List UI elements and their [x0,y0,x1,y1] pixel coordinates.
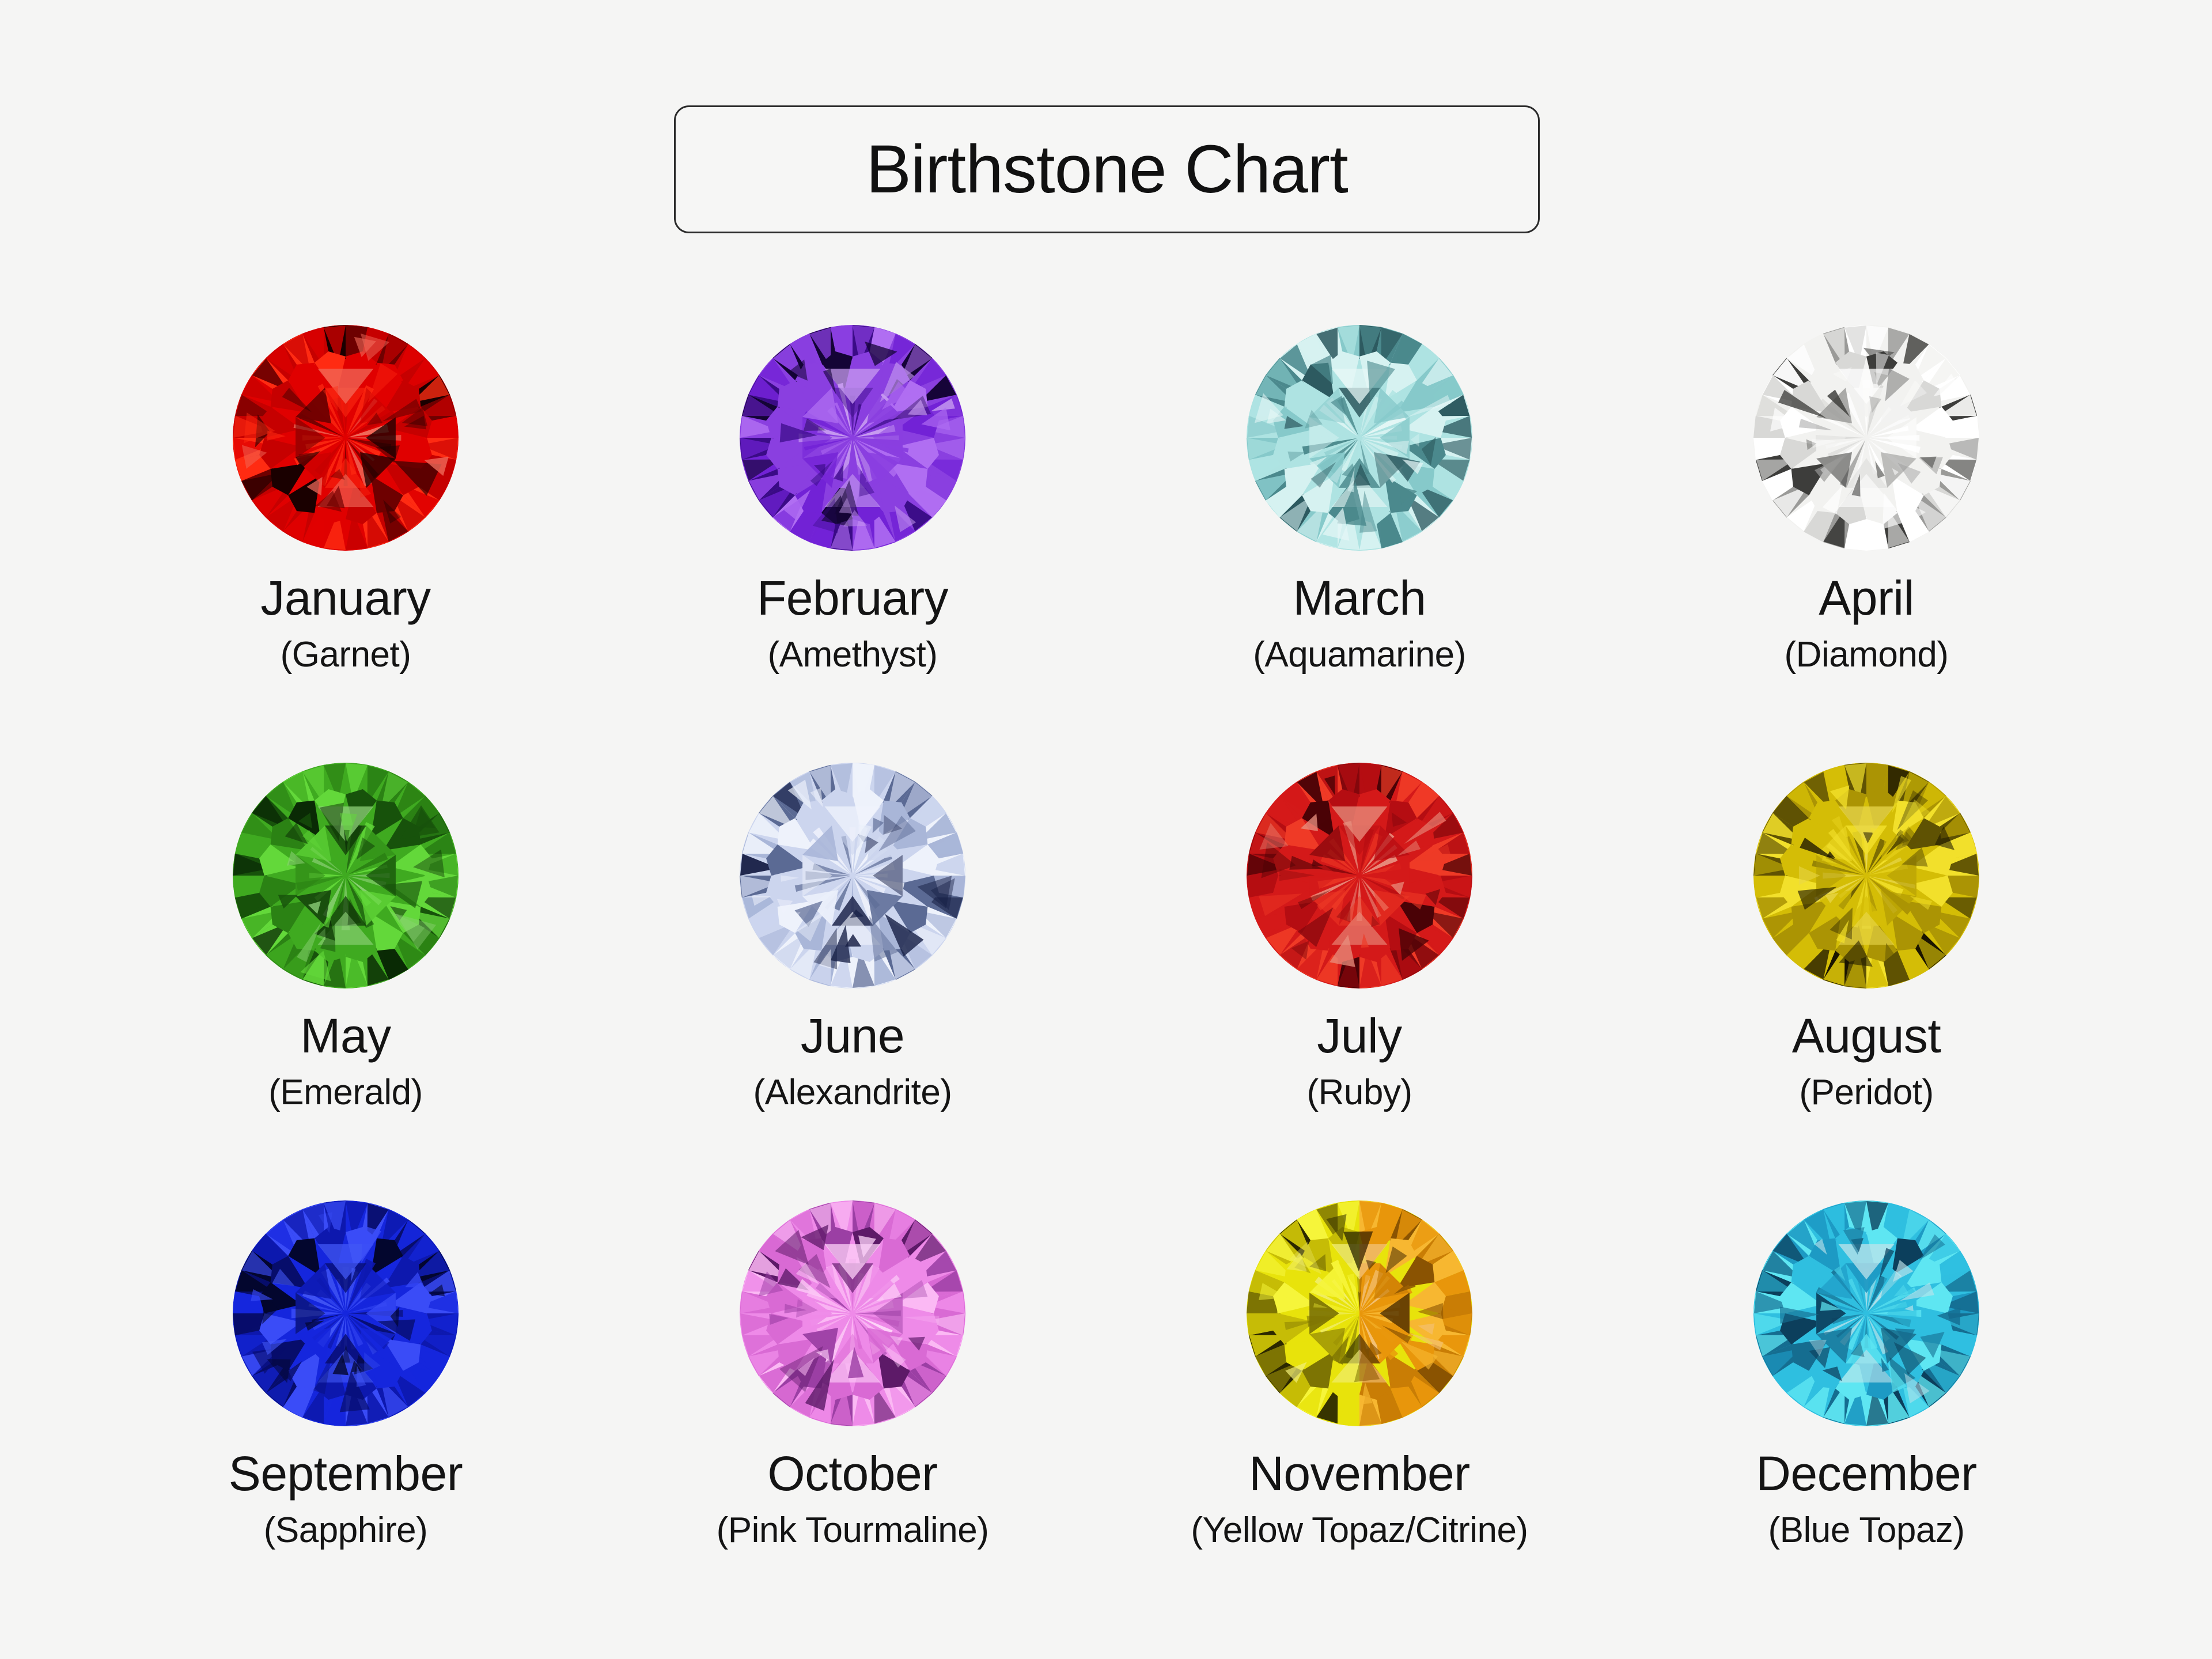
stone-label: (Blue Topaz) [1768,1513,1965,1548]
month-label: August [1792,1012,1941,1060]
month-label: June [801,1012,904,1060]
stone-label: (Aquamarine) [1253,637,1466,673]
birthstone-cell[interactable]: April(Diamond) [1613,323,2120,760]
month-label: January [260,574,430,622]
gemstone-icon [1244,323,1475,553]
birthstone-cell[interactable]: December(Blue Topaz) [1613,1198,2120,1636]
stone-label: (Yellow Topaz/Citrine) [1191,1513,1528,1548]
chart-title-box: Birthstone Chart [674,105,1540,233]
page-title: Birthstone Chart [866,135,1348,203]
birthstone-grid: January(Garnet)February(Amethyst)March(A… [92,323,2120,1636]
gemstone-icon [1751,760,1982,991]
month-label: December [1756,1449,1976,1498]
birthstone-cell[interactable]: May(Emerald) [92,760,599,1198]
stone-label: (Peridot) [1799,1075,1933,1111]
birthstone-cell[interactable]: June(Alexandrite) [599,760,1106,1198]
gemstone-icon [1244,1198,1475,1429]
stone-label: (Sapphire) [264,1513,427,1548]
month-label: March [1293,574,1426,622]
stone-label: (Alexandrite) [753,1075,952,1111]
stone-label: (Garnet) [281,637,411,673]
stone-label: (Amethyst) [768,637,938,673]
birthstone-cell[interactable]: July(Ruby) [1106,760,1613,1198]
gemstone-icon [737,760,968,991]
birthstone-cell[interactable]: August(Peridot) [1613,760,2120,1198]
month-label: February [757,574,948,622]
gemstone-icon [737,323,968,553]
gemstone-icon [737,1198,968,1429]
stone-label: (Emerald) [268,1075,423,1111]
birthstone-cell[interactable]: February(Amethyst) [599,323,1106,760]
month-label: April [1819,574,1914,622]
stone-label: (Ruby) [1306,1075,1412,1111]
birthstone-cell[interactable]: October(Pink Tourmaline) [599,1198,1106,1636]
gemstone-icon [230,760,461,991]
stone-label: (Pink Tourmaline) [717,1513,989,1548]
month-label: October [767,1449,937,1498]
gemstone-icon [230,1198,461,1429]
birthstone-cell[interactable]: January(Garnet) [92,323,599,760]
stone-label: (Diamond) [1785,637,1949,673]
birthstone-cell[interactable]: March(Aquamarine) [1106,323,1613,760]
gemstone-icon [1751,1198,1982,1429]
month-label: November [1249,1449,1469,1498]
month-label: July [1317,1012,1402,1060]
birthstone-cell[interactable]: September(Sapphire) [92,1198,599,1636]
gemstone-icon [1751,323,1982,553]
month-label: May [300,1012,391,1060]
birthstone-cell[interactable]: November(Yellow Topaz/Citrine) [1106,1198,1613,1636]
gemstone-icon [230,323,461,553]
gemstone-icon [1244,760,1475,991]
month-label: September [229,1449,463,1498]
